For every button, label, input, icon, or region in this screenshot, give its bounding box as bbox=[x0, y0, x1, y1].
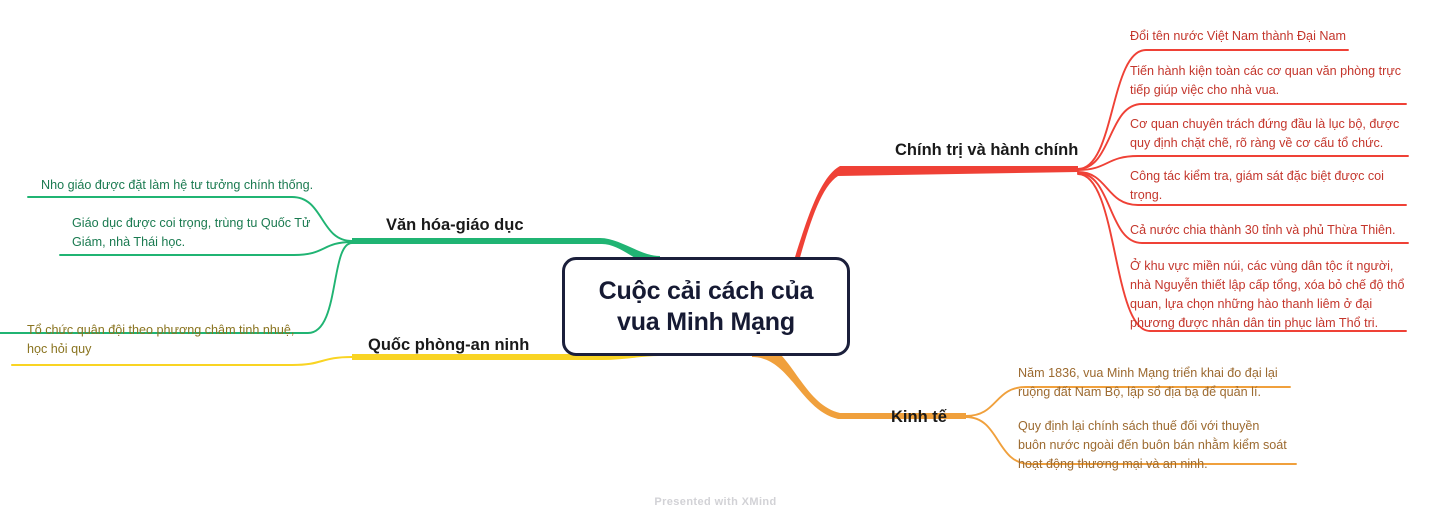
topic-economy[interactable]: Kinh tế bbox=[891, 408, 947, 427]
leaf-politics-1[interactable]: Đổi tên nước Việt Nam thành Đại Nam bbox=[1130, 27, 1422, 46]
leaf-economy-1[interactable]: Năm 1836, vua Minh Mạng triển khai đo đạ… bbox=[1018, 364, 1298, 402]
subbranch-culture-overlap bbox=[0, 243, 352, 333]
leaf-defense-1[interactable]: Tổ chức quân đội theo phương châm tinh n… bbox=[27, 321, 307, 359]
central-topic-label: Cuộc cải cách của vua Minh Mạng bbox=[599, 276, 814, 338]
leaf-politics-5[interactable]: Cả nước chia thành 30 tỉnh và phủ Thừa T… bbox=[1130, 221, 1420, 240]
topic-defense[interactable]: Quốc phòng-an ninh bbox=[368, 336, 529, 355]
leaf-politics-3[interactable]: Cơ quan chuyên trách đứng đầu là lục bộ,… bbox=[1130, 115, 1412, 153]
xmind-watermark: Presented with XMind bbox=[0, 496, 1431, 508]
leaf-culture-2[interactable]: Giáo dục được coi trọng, trùng tu Quốc T… bbox=[72, 214, 322, 252]
leaf-politics-4[interactable]: Công tác kiểm tra, giám sát đặc biệt đượ… bbox=[1130, 167, 1408, 205]
leaf-politics-6[interactable]: Ở khu vực miền núi, các vùng dân tộc ít … bbox=[1130, 257, 1412, 334]
central-topic-node[interactable]: Cuộc cải cách của vua Minh Mạng bbox=[562, 257, 850, 356]
topic-politics[interactable]: Chính trị và hành chính bbox=[895, 141, 1078, 160]
topic-culture[interactable]: Văn hóa-giáo dục bbox=[386, 216, 524, 235]
mindmap-canvas: Cuộc cải cách của vua Minh Mạng Chính tr… bbox=[0, 0, 1431, 527]
leaf-culture-1[interactable]: Nho giáo được đặt làm hệ tư tưởng chính … bbox=[41, 176, 371, 195]
leaf-economy-2[interactable]: Quy định lại chính sách thuế đối với thu… bbox=[1018, 417, 1290, 474]
leaf-politics-2[interactable]: Tiến hành kiện toàn các cơ quan văn phòn… bbox=[1130, 62, 1408, 100]
